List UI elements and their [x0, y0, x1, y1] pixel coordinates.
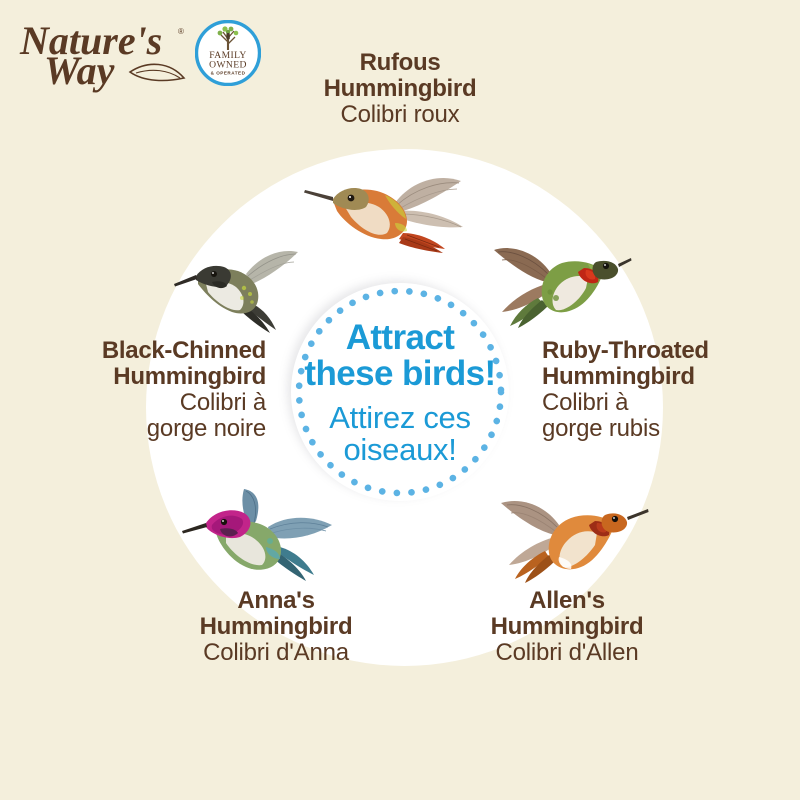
headline-fr-line1: Attirez ces [329, 400, 470, 435]
bird-french-name-annas: Colibri d'Anna [148, 640, 404, 666]
french-line2: gorge rubis [542, 416, 792, 442]
logo-wordmark-text: Nature's Way [19, 18, 162, 93]
french-line1: Colibri à [542, 390, 792, 416]
badge-line3: & OPERATED [211, 71, 246, 76]
head [593, 261, 619, 280]
bird-image-annas [182, 489, 340, 594]
french-line2: gorge noire [20, 416, 266, 442]
bird-image-allens [497, 489, 649, 591]
french-line1: Colibri à [20, 390, 266, 416]
common-line2: Hummingbird [20, 364, 266, 390]
bird-common-name-rufous: Rufous Hummingbird [268, 50, 532, 101]
french-line1: Colibri d'Anna [148, 640, 404, 666]
eye [612, 516, 618, 522]
head [602, 513, 628, 532]
natures-way-logo: Nature's Way ® [18, 16, 193, 94]
tail [399, 233, 445, 253]
bird-label-black-chinned: Black-Chinned Hummingbird Colibri à gorg… [20, 338, 266, 442]
registered-mark: ® [178, 27, 184, 36]
french-line1: Colibri d'Allen [432, 640, 702, 666]
bird-label-rufous: Rufous Hummingbird Colibri roux [268, 50, 532, 128]
common-line2: Hummingbird [268, 76, 532, 102]
bird-image-rufous [299, 159, 479, 269]
beak [174, 275, 197, 287]
bird-label-allens: Allen's Hummingbird Colibri d'Allen [432, 588, 702, 666]
head [206, 510, 250, 538]
common-line2: Hummingbird [542, 364, 792, 390]
eye [348, 195, 355, 202]
bird-french-name-black-chinned: Colibri à gorge noire [20, 390, 266, 441]
beak [182, 523, 207, 534]
family-owned-badge: FAMILY OWNED & OPERATED [195, 20, 261, 86]
attract-these-birds-medallion: Attract these birds! Attirez ces oiseaux… [291, 283, 509, 501]
headline-english: Attract these birds! [304, 320, 495, 391]
bird-common-name-allens: Allen's Hummingbird [432, 588, 702, 639]
common-line1: Ruby-Throated [542, 338, 792, 364]
common-line2: Hummingbird [432, 614, 702, 640]
wing-upper [246, 251, 298, 284]
svg-text:Way: Way [44, 48, 115, 93]
wing-upper [501, 501, 559, 535]
common-line1: Black-Chinned [20, 338, 266, 364]
bird-common-name-black-chinned: Black-Chinned Hummingbird [20, 338, 266, 389]
headline-fr-line2: oiseaux! [329, 434, 470, 465]
bird-label-annas: Anna's Hummingbird Colibri d'Anna [148, 588, 404, 666]
headline-en-line1: Attract [346, 318, 455, 357]
wing-upper [395, 178, 461, 211]
bird-french-name-allens: Colibri d'Allen [432, 640, 702, 666]
wing-upper [494, 248, 550, 282]
headline-french: Attirez ces oiseaux! [329, 402, 470, 465]
beak [618, 258, 632, 267]
bird-french-name-rufous: Colibri roux [268, 102, 532, 128]
beak [627, 509, 649, 520]
eye [211, 271, 217, 277]
eye [603, 263, 609, 269]
common-line1: Rufous [268, 50, 532, 76]
beak [304, 190, 333, 201]
bird-image-black-chinned [172, 240, 304, 335]
common-line2: Hummingbird [148, 614, 404, 640]
bird-label-ruby-throated: Ruby-Throated Hummingbird Colibri à gorg… [542, 338, 792, 442]
badge-line2: OWNED [209, 60, 247, 71]
bird-image-ruby-throated [492, 234, 632, 334]
wing-right [268, 518, 332, 539]
headline-en-line2: these birds! [304, 356, 495, 391]
medallion-text: Attract these birds! Attirez ces oiseaux… [291, 283, 509, 501]
bird-french-name-ruby-throated: Colibri à gorge rubis [542, 390, 792, 441]
wing-lower [397, 211, 463, 228]
eye [221, 519, 227, 525]
bird-common-name-ruby-throated: Ruby-Throated Hummingbird [542, 338, 792, 389]
common-line1: Allen's [432, 588, 702, 614]
common-line1: Anna's [148, 588, 404, 614]
bird-common-name-annas: Anna's Hummingbird [148, 588, 404, 639]
french-line1: Colibri roux [268, 102, 532, 128]
